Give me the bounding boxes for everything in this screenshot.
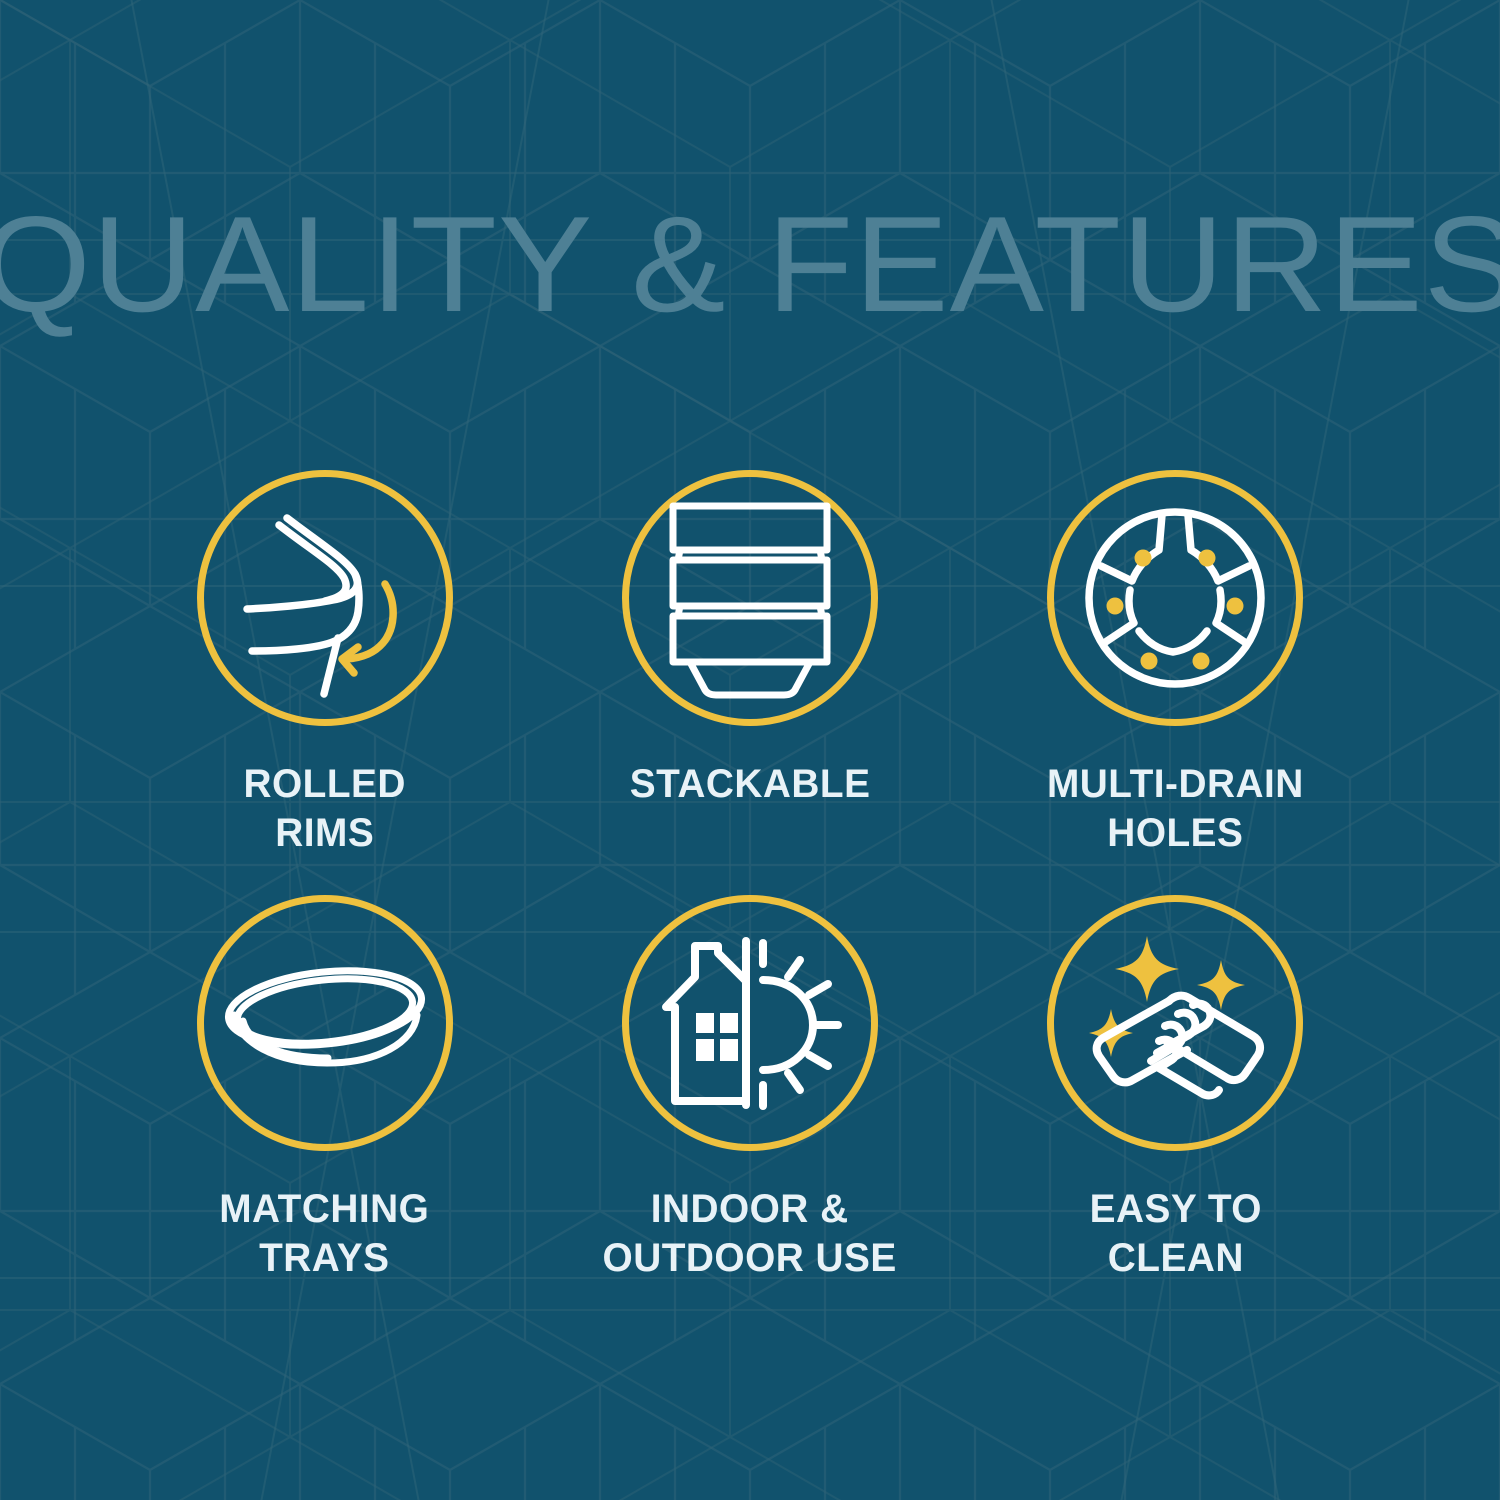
stacked-pots-icon bbox=[660, 498, 840, 698]
feature-label: ROLLED RIMS bbox=[243, 760, 405, 858]
feature-label: MULTI-DRAIN HOLES bbox=[1047, 760, 1304, 858]
feature-badge bbox=[622, 895, 878, 1151]
feature-item-easy-to-clean[interactable]: EASY TO CLEAN bbox=[963, 895, 1388, 1320]
feature-label: STACKABLE bbox=[630, 760, 871, 809]
feature-badge bbox=[197, 895, 453, 1151]
feature-label: INDOOR & OUTDOOR USE bbox=[603, 1185, 897, 1283]
quality-and-features-infographic: QUALITY & FEATURES ROL bbox=[0, 0, 1500, 1500]
tray-saucer-icon bbox=[221, 958, 429, 1088]
feature-badge bbox=[197, 470, 453, 726]
feature-item-rolled-rims[interactable]: ROLLED RIMS bbox=[112, 470, 537, 895]
rolled-rim-icon bbox=[225, 498, 425, 698]
feature-item-matching-trays[interactable]: MATCHING TRAYS bbox=[112, 895, 537, 1320]
feature-label: EASY TO CLEAN bbox=[1089, 1185, 1261, 1283]
feature-label: MATCHING TRAYS bbox=[220, 1185, 430, 1283]
feature-badge bbox=[1047, 895, 1303, 1151]
house-sun-icon bbox=[650, 933, 850, 1113]
feature-item-multi-drain-holes[interactable]: MULTI-DRAIN HOLES bbox=[963, 470, 1388, 895]
page-title: QUALITY & FEATURES bbox=[0, 196, 1500, 332]
feature-item-stackable[interactable]: STACKABLE bbox=[537, 470, 962, 895]
drain-holes-icon bbox=[1079, 502, 1271, 694]
feature-badge bbox=[1047, 470, 1303, 726]
feature-grid: ROLLED RIMS STACKABLE bbox=[112, 470, 1388, 1320]
feature-item-indoor-outdoor-use[interactable]: INDOOR & OUTDOOR USE bbox=[537, 895, 962, 1320]
wiping-hand-sparkle-icon bbox=[1075, 928, 1275, 1118]
feature-badge bbox=[622, 470, 878, 726]
